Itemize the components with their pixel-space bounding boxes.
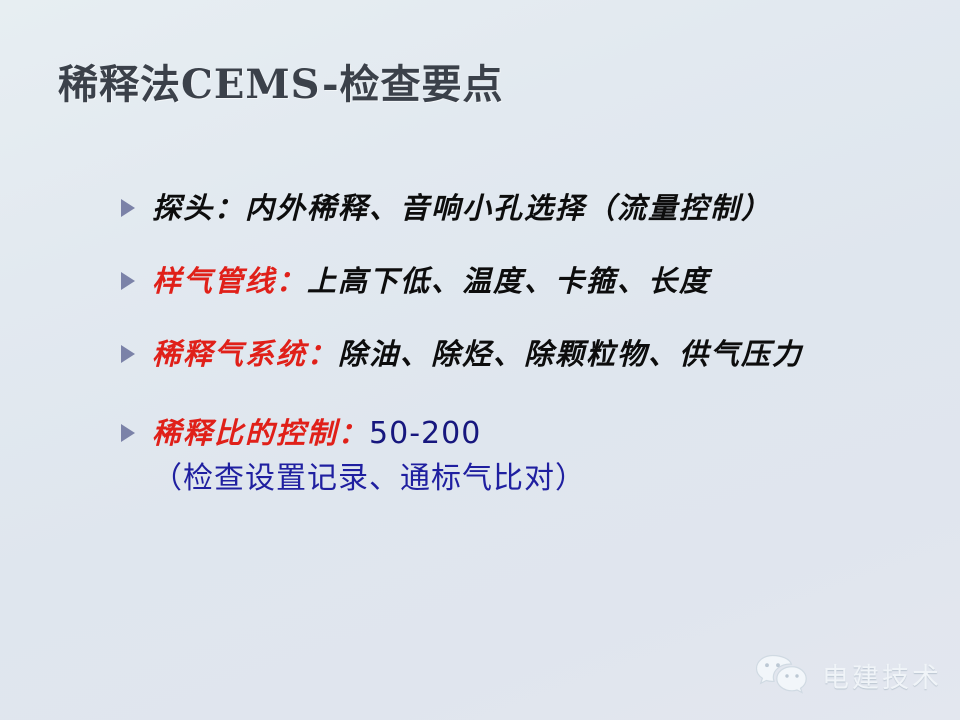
bullet-item-sample-line: 样气管线：上高下低、温度、卡箍、长度 <box>118 259 908 304</box>
slide-canvas: 稀释法CEMS-检查要点 探头：内外稀释、音响小孔选择（流量控制） 样气管线：上… <box>0 0 960 720</box>
bullet-segment-label: 稀释比的控制： <box>152 416 369 450</box>
watermark-label: 电建技术 <box>822 656 942 695</box>
bullet-item-dilution-ratio-control: 稀释比的控制：50-200（检查设置记录、通标气比对） <box>118 411 908 501</box>
triangle-right-icon <box>121 272 135 290</box>
wechat-icon <box>754 652 810 698</box>
triangle-right-icon <box>121 424 135 442</box>
bullet-text-dilution-ratio-control: 稀释比的控制：50-200（检查设置记录、通标气比对） <box>152 411 908 501</box>
page-title: 稀释法CEMS-检查要点 <box>58 58 878 112</box>
bullet-item-probe: 探头：内外稀释、音响小孔选择（流量控制） <box>118 186 908 231</box>
bullet-segment: 探头：内外稀释、音响小孔选择（流量控制） <box>152 191 772 225</box>
bullet-segment-value: 50-200 <box>369 416 481 451</box>
bullet-list: 探头：内外稀释、音响小孔选择（流量控制） 样气管线：上高下低、温度、卡箍、长度 … <box>118 186 908 501</box>
bullet-segment-body: 上高下低、温度、卡箍、长度 <box>307 264 710 298</box>
title-block: 稀释法CEMS-检查要点 <box>58 58 878 120</box>
bullet-item-dilution-gas-system: 稀释气系统：除油、除烃、除颗粒物、供气压力 <box>118 332 908 377</box>
bullet-segment-label: 稀释气系统： <box>152 337 338 371</box>
triangle-right-icon <box>121 199 135 217</box>
bullet-segment-label: 样气管线： <box>152 264 307 298</box>
watermark: 电建技术 <box>754 652 942 698</box>
bullet-segment-note: （检查设置记录、通标气比对） <box>152 461 586 496</box>
bullet-text-sample-line: 样气管线：上高下低、温度、卡箍、长度 <box>152 259 908 304</box>
bullet-text-dilution-gas-system: 稀释气系统：除油、除烃、除颗粒物、供气压力 <box>152 332 908 377</box>
bullet-segment-body: 除油、除烃、除颗粒物、供气压力 <box>338 337 803 371</box>
bullet-text-probe: 探头：内外稀释、音响小孔选择（流量控制） <box>152 186 908 231</box>
triangle-right-icon <box>121 345 135 363</box>
